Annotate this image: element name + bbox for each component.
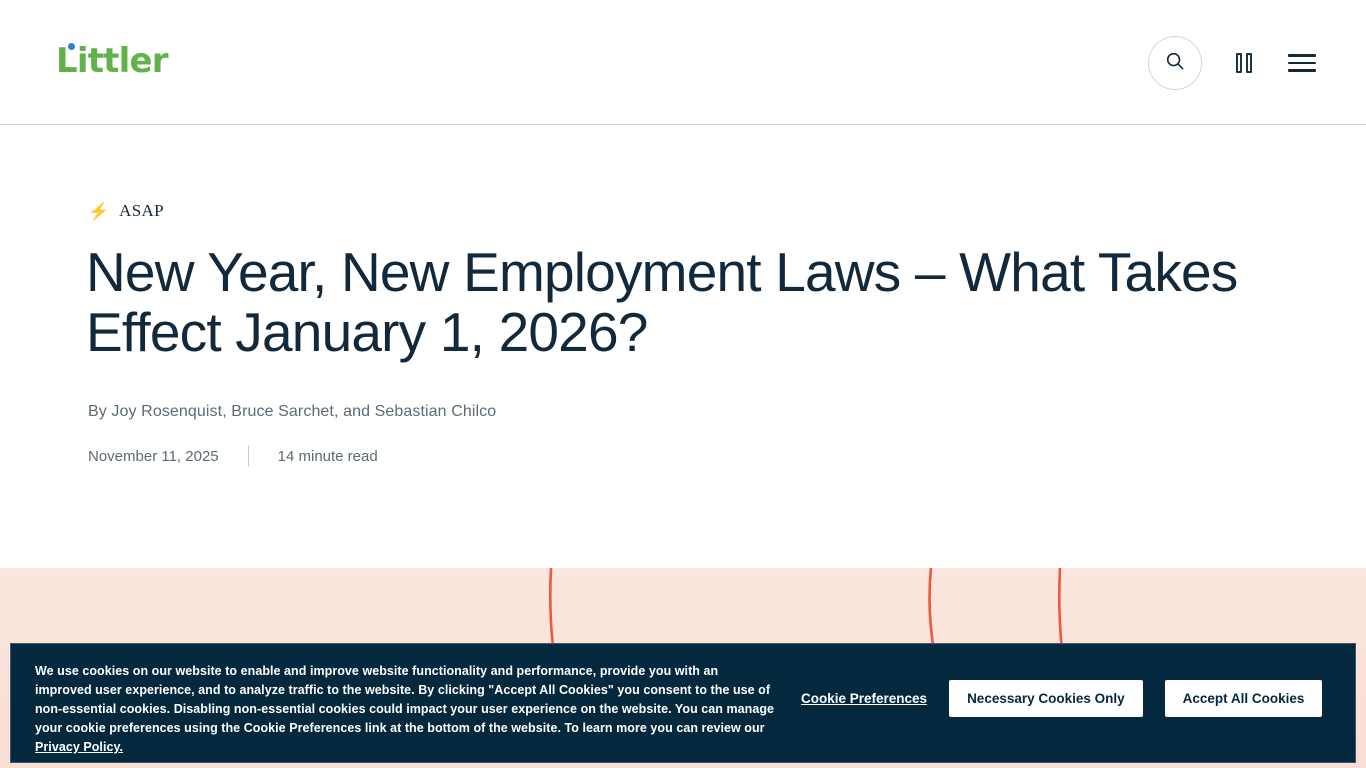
littler-logo[interactable]: Littler: [56, 44, 168, 78]
article-meta: November 11, 2025 14 minute read: [88, 445, 378, 467]
page-title: New Year, New Employment Laws – What Tak…: [86, 242, 1286, 362]
eyebrow-label: ASAP: [119, 201, 164, 221]
necessary-cookies-only-button[interactable]: Necessary Cookies Only: [949, 680, 1143, 717]
columns-icon: [1236, 53, 1252, 73]
cookie-consent-banner: We use cookies on our website to enable …: [10, 643, 1356, 763]
logo-dot-icon: [68, 43, 75, 50]
cookie-banner-text: We use cookies on our website to enable …: [35, 662, 775, 757]
meta-divider: [248, 445, 249, 467]
article-header: ⚡ ASAP New Year, New Employment Laws – W…: [0, 125, 1366, 568]
article-byline: By Joy Rosenquist, Bruce Sarchet, and Se…: [88, 403, 496, 421]
privacy-policy-link[interactable]: Privacy Policy.: [35, 740, 123, 754]
search-button[interactable]: [1148, 36, 1202, 90]
lightning-bolt-icon: ⚡: [88, 203, 109, 220]
columns-view-button[interactable]: [1228, 47, 1260, 79]
publish-date: November 11, 2025: [88, 448, 219, 465]
hamburger-menu-icon: [1288, 54, 1316, 72]
cookie-body-copy: We use cookies on our website to enable …: [35, 664, 774, 735]
read-time: 14 minute read: [278, 448, 378, 465]
cookie-preferences-link[interactable]: Cookie Preferences: [801, 691, 927, 706]
menu-button[interactable]: [1286, 47, 1318, 79]
header-actions: [1148, 36, 1318, 90]
site-header: Littler: [0, 0, 1366, 125]
article-eyebrow: ⚡ ASAP: [88, 201, 164, 221]
cookie-banner-actions: Cookie Preferences Necessary Cookies Onl…: [801, 680, 1322, 717]
accept-all-cookies-button[interactable]: Accept All Cookies: [1165, 680, 1323, 717]
search-icon: [1165, 51, 1185, 76]
